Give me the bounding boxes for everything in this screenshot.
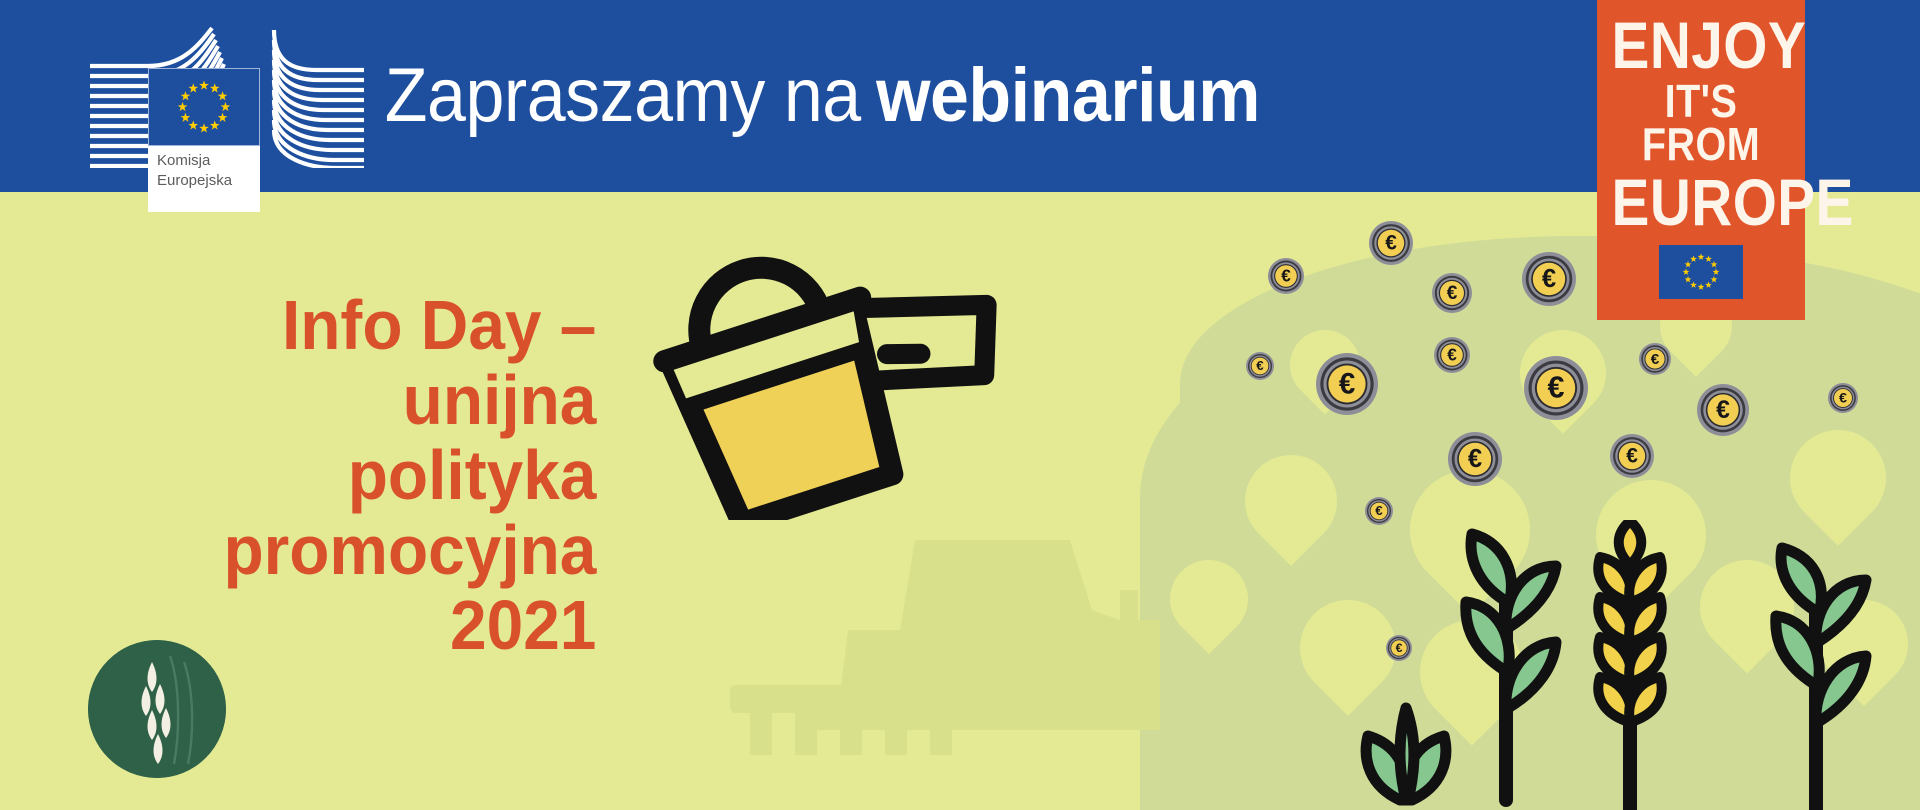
euro-coin [1828, 383, 1858, 413]
euro-coin [1448, 432, 1502, 486]
ec-caption-line1: Komisja [157, 151, 260, 171]
euro-coin [1639, 343, 1671, 375]
euro-coin [1432, 273, 1472, 313]
banner-root: € [0, 0, 1920, 810]
wheat-stalk [1598, 521, 1661, 810]
enjoy-its-from-europe-badge: ENJOY IT'S FROM EUROPE [1597, 0, 1805, 320]
euro-coin [1316, 353, 1378, 415]
header-headline: Zapraszamy na webinarium [460, 36, 1260, 156]
page-title-line1: Info Day – unijna [70, 288, 596, 438]
ec-caption-line2: Europejska [157, 171, 260, 191]
page-title-line2: polityka [70, 438, 596, 513]
eu-flag-badge [1659, 245, 1743, 299]
enjoy-badge-line3: EUROPE [1612, 171, 1791, 233]
euro-coin [1369, 221, 1413, 265]
euro-coin [1522, 252, 1576, 306]
euro-coin [1524, 356, 1588, 420]
sprout-left [1366, 708, 1446, 800]
euro-coin [1268, 258, 1304, 294]
header-headline-bold: webinarium [876, 58, 1260, 134]
euro-coin [1246, 352, 1274, 380]
leafy-stem-1 [1466, 534, 1556, 800]
ec-logo-caption: Komisja Europejska [148, 146, 260, 212]
kowr-logo [88, 640, 226, 778]
eu-flag-header [148, 68, 260, 146]
euro-coin [1434, 337, 1470, 373]
leafy-stem-2 [1776, 548, 1866, 810]
page-title: Info Day – unijna polityka promocyjna 20… [70, 288, 596, 662]
watering-can-icon [600, 160, 1060, 520]
euro-coin [1610, 434, 1654, 478]
header-headline-plain: Zapraszamy na [385, 58, 861, 134]
enjoy-badge-line1: ENJOY [1612, 14, 1791, 76]
plants-illustration [1330, 520, 1920, 810]
euro-coin [1697, 384, 1749, 436]
enjoy-badge-line2: IT'S FROM [1612, 80, 1791, 166]
